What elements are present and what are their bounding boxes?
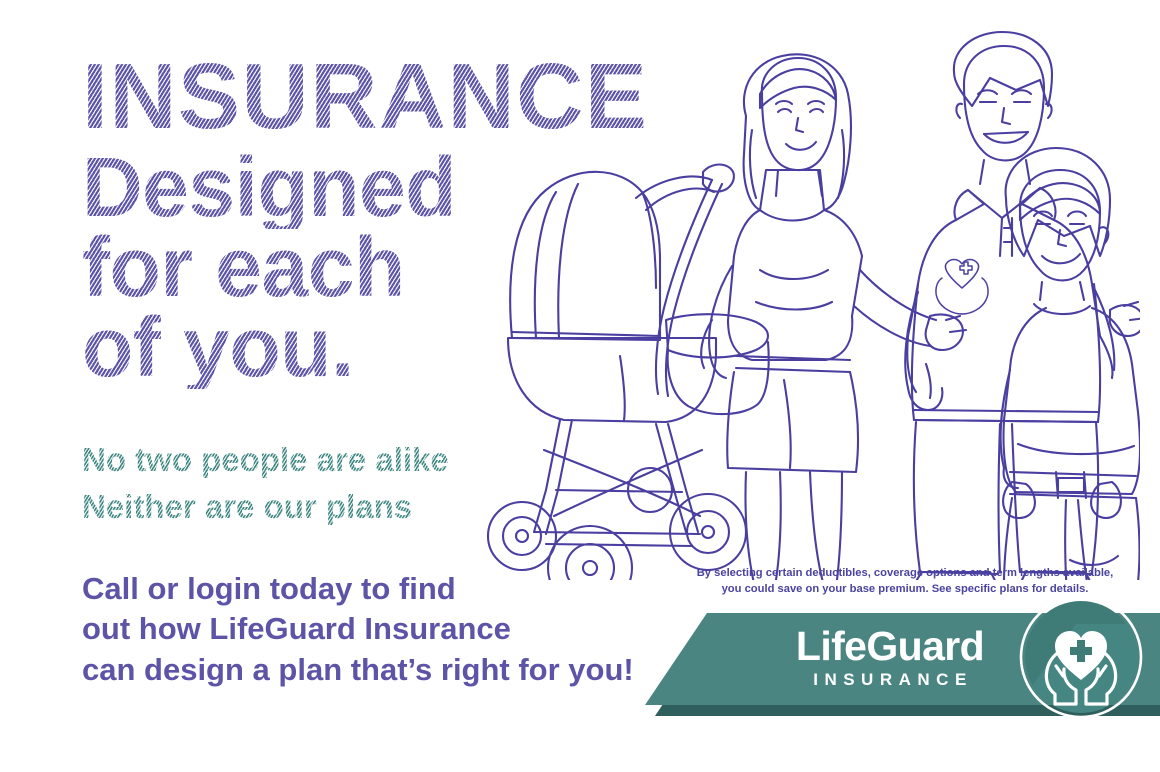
headline-line-designed: Designed xyxy=(82,145,702,229)
brand-name: LifeGuard xyxy=(770,625,1010,668)
headline-line-of-you: of you. xyxy=(82,305,702,389)
cta-line-1: Call or login today to find xyxy=(82,569,702,609)
brand-wordmark: LifeGuard INSURANCE xyxy=(770,625,1010,691)
teen-child-sketch xyxy=(999,148,1140,580)
tagline-block: No two people are alike Neither are our … xyxy=(82,437,702,531)
hands-holding-heart-with-cross-icon xyxy=(1018,594,1144,720)
copy-column: INSURANCE Designed for each of you. No t… xyxy=(82,52,702,712)
disclaimer-text: By selecting certain deductibles, covera… xyxy=(695,565,1115,597)
insurance-ad-poster: INSURANCE Designed for each of you. No t… xyxy=(0,0,1160,772)
headline-line-insurance: INSURANCE xyxy=(82,52,702,141)
headline-line-for-each: for each xyxy=(82,225,702,309)
cta-line-3: can design a plan that’s right for you! xyxy=(82,650,702,690)
cta-line-2: out how LifeGuard Insurance xyxy=(82,609,702,649)
headline-block: INSURANCE Designed for each of you. xyxy=(82,52,702,389)
brand-subtitle: INSURANCE xyxy=(776,669,1010,691)
cta-block: Call or login today to find out how Life… xyxy=(82,569,702,690)
father-sketch xyxy=(905,32,1114,580)
tagline-line-1: No two people are alike xyxy=(82,437,702,484)
disclaimer-line-1: By selecting certain deductibles, covera… xyxy=(695,565,1115,581)
tagline-line-2: Neither are our plans xyxy=(82,484,702,531)
